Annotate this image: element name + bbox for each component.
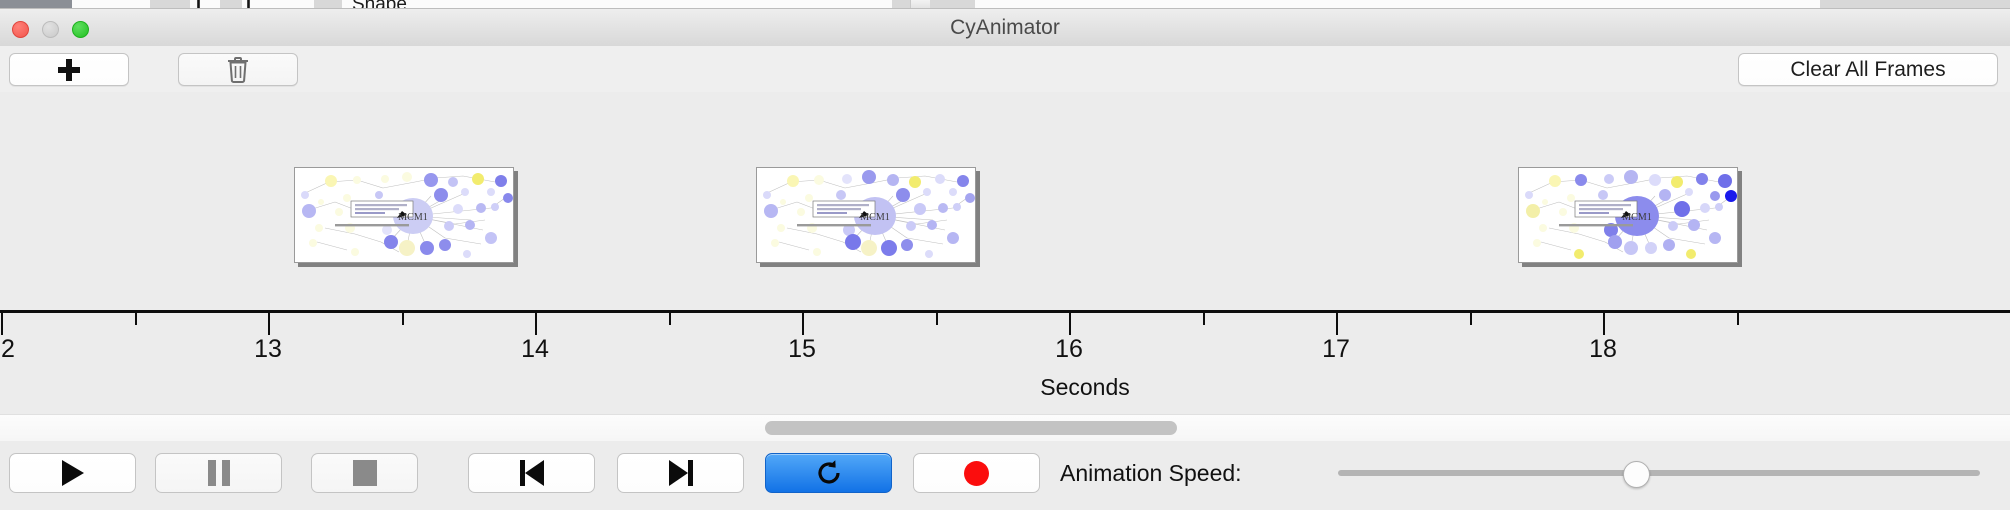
clear-all-frames-button[interactable]: Clear All Frames [1738, 53, 1998, 86]
background-window-strip: I I Shape [0, 0, 2010, 9]
ruler-tick-major [535, 313, 537, 335]
ruler-tick-major [268, 313, 270, 335]
ruler-tick-major [1603, 313, 1605, 335]
ruler-axis-line [0, 310, 2010, 313]
stop-icon [353, 460, 377, 486]
ruler-tick-label: 14 [521, 335, 549, 364]
network-thumbnail-2: MCM1 [757, 168, 975, 262]
plus-icon [58, 59, 80, 81]
animation-speed-slider[interactable] [1338, 453, 1980, 493]
ruler-tick-minor [1737, 313, 1739, 325]
pause-button[interactable] [155, 453, 282, 493]
frame-thumbnail[interactable]: MCM1 [1518, 167, 1738, 263]
ruler-tick-minor [669, 313, 671, 325]
loop-button[interactable] [765, 453, 892, 493]
ruler-tick-label: 17 [1322, 335, 1350, 364]
timeline-scrollbar[interactable] [0, 414, 2010, 442]
add-frame-button[interactable] [9, 53, 129, 86]
play-button[interactable] [9, 453, 136, 493]
frame-thumbnail[interactable]: MCM1 [756, 167, 976, 263]
skip-start-icon [520, 460, 544, 486]
ruler-tick-minor [402, 313, 404, 325]
axis-title: Seconds [1040, 374, 1130, 401]
frame-thumbnail[interactable]: MCM1 [294, 167, 514, 263]
play-icon [62, 460, 84, 486]
ruler-tick-label: 13 [254, 335, 282, 364]
slider-track[interactable] [1338, 470, 1980, 476]
title-bar: CyAnimator [0, 9, 2010, 47]
timeline-panel[interactable]: MCM1 [0, 92, 2010, 414]
svg-text:MCM1: MCM1 [1622, 212, 1651, 223]
ruler-tick-minor [135, 313, 137, 325]
network-thumbnail-1: MCM1 [295, 168, 513, 262]
record-icon [964, 461, 989, 486]
trash-icon [226, 56, 250, 83]
slider-thumb[interactable] [1623, 461, 1650, 488]
ruler-tick-major [1069, 313, 1071, 335]
svg-text:MCM1: MCM1 [860, 212, 889, 223]
delete-frame-button[interactable] [178, 53, 298, 86]
animation-speed-label: Animation Speed: [1060, 453, 1242, 493]
scrollbar-thumb[interactable] [765, 421, 1177, 435]
ruler-tick-label: 12 [0, 335, 15, 364]
ruler-tick-major [1336, 313, 1338, 335]
window-title: CyAnimator [0, 9, 2010, 46]
ruler-tick-label: 16 [1055, 335, 1083, 364]
toolbar: Clear All Frames [0, 46, 2010, 93]
skip-to-start-button[interactable] [468, 453, 595, 493]
record-button[interactable] [913, 453, 1040, 493]
ruler-tick-minor [1203, 313, 1205, 325]
ruler-tick-label: 18 [1589, 335, 1617, 364]
skip-to-end-button[interactable] [617, 453, 744, 493]
timeline-ruler[interactable]: 12131415161718 Seconds [0, 310, 2010, 414]
stop-button[interactable] [311, 453, 418, 493]
loop-icon [814, 458, 844, 488]
ruler-tick-major [1, 313, 3, 335]
ruler-tick-minor [1470, 313, 1472, 325]
pause-icon [208, 460, 230, 486]
network-thumbnail-3: MCM1 [1519, 168, 1737, 262]
ruler-tick-major [802, 313, 804, 335]
playback-controls: Animation Speed: [0, 441, 2010, 510]
ruler-tick-minor [936, 313, 938, 325]
cyanimator-window: I I Shape CyAnimator Clear All Frames [0, 0, 2010, 510]
svg-text:MCM1: MCM1 [398, 212, 427, 223]
skip-end-icon [669, 460, 693, 486]
ruler-tick-label: 15 [788, 335, 816, 364]
